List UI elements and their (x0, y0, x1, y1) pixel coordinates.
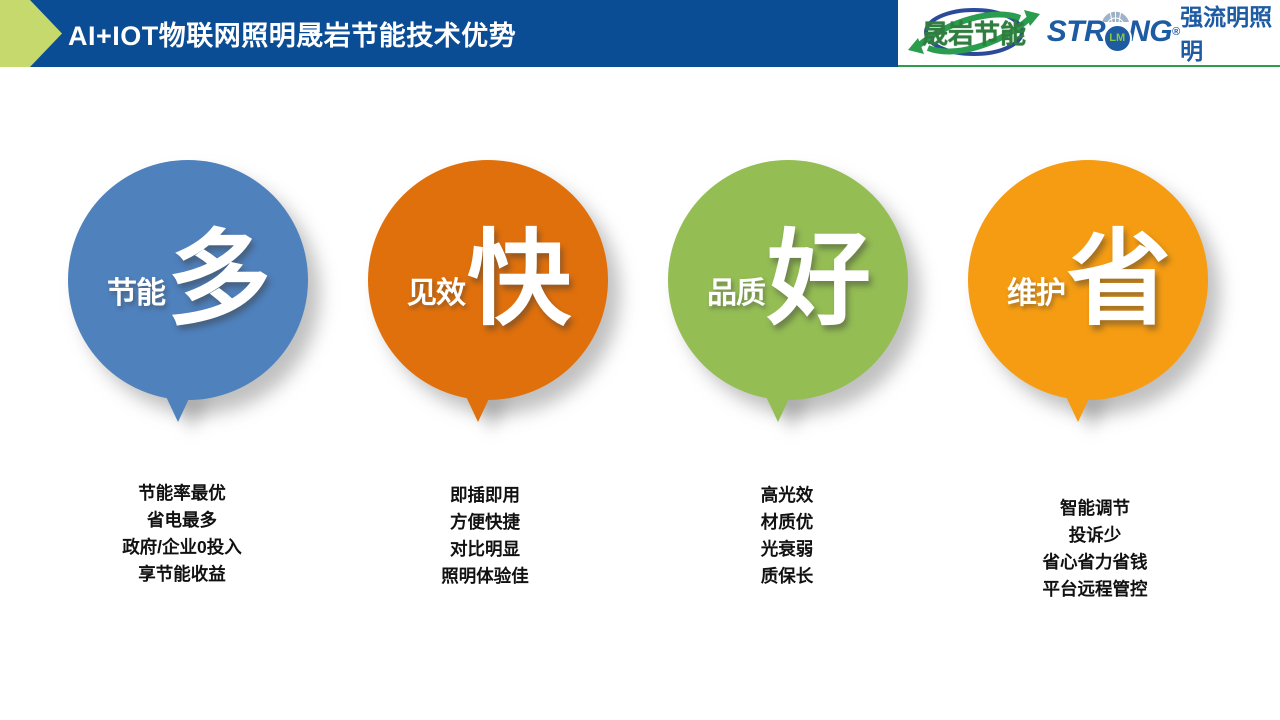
bubble-big-label: 好 (767, 228, 869, 332)
bubble-big-label: 省 (1067, 228, 1169, 332)
caption-line: 节能率最优 (32, 480, 332, 507)
bubble-small-label: 维护 (1007, 279, 1065, 309)
caption-list-speed: 即插即用 方便快捷 对比明显 照明体验佳 (335, 482, 635, 590)
caption-line: 平台远程管控 (945, 576, 1245, 603)
caption-line: 方便快捷 (335, 509, 635, 536)
lm-badge: LM (1103, 24, 1132, 53)
bubble-maintenance: 维护 省 (968, 160, 1208, 400)
bubble-speed: 见效 快 (368, 160, 608, 400)
caption-list-quality: 高光效 材质优 光衰弱 质保长 (637, 482, 937, 590)
caption-line: 省电最多 (32, 507, 332, 534)
caption-list-energy: 节能率最优 省电最多 政府/企业0投入 享节能收益 (32, 480, 332, 588)
bubble-small-label: 节能 (107, 279, 165, 309)
caption-line: 高光效 (637, 482, 937, 509)
bubble-labels: 见效 快 (368, 160, 608, 400)
caption-line: 照明体验佳 (335, 563, 635, 590)
brand-en-text-tail: NG (1128, 15, 1172, 48)
bubble-big-label: 多 (167, 228, 269, 332)
caption-line: 即插即用 (335, 482, 635, 509)
registered-mark: ® (1172, 26, 1180, 38)
caption-line: 享节能收益 (32, 561, 332, 588)
bubble-quality: 品质 好 (668, 160, 908, 400)
brand-en-text: STR (1047, 15, 1106, 48)
bubble-big-label: 快 (467, 228, 569, 332)
caption-list-maintenance: 智能调节 投诉少 省心省力省钱 平台远程管控 (945, 495, 1245, 603)
slide-header: AI+IOT物联网照明晟岩节能技术优势 晟岩节能 (0, 0, 1280, 67)
slide-root: AI+IOT物联网照明晟岩节能技术优势 晟岩节能 (0, 0, 1280, 720)
caption-line: 政府/企业0投入 (32, 534, 332, 561)
caption-line: 光衰弱 (637, 536, 937, 563)
caption-line: 质保长 (637, 563, 937, 590)
caption-line: 对比明显 (335, 536, 635, 563)
brand-chinese-text: 晟岩节能 (898, 14, 1050, 51)
bubble-labels: 维护 省 (968, 160, 1208, 400)
bubble-small-label: 见效 (407, 279, 465, 309)
bubble-small-label: 品质 (707, 279, 765, 309)
caption-line: 智能调节 (945, 495, 1245, 522)
brand-chinese-sub: 强流明照明 (1180, 0, 1280, 66)
bubble-row: 节能 多 见效 快 品质 好 (0, 160, 1280, 450)
bubble-labels: 品质 好 (668, 160, 908, 400)
bubble-energy: 节能 多 (68, 160, 308, 400)
company-logo: 晟岩节能 STRONG LM ® 强流明照明 (898, 0, 1280, 67)
page-title: AI+IOT物联网照明晟岩节能技术优势 (68, 0, 516, 67)
bubble-labels: 节能 多 (68, 160, 308, 400)
caption-line: 投诉少 (945, 522, 1245, 549)
brand-chinese-logo: 晟岩节能 (898, 6, 1041, 58)
caption-line: 材质优 (637, 509, 937, 536)
brand-english-logo: STRONG LM ® 强流明照明 (1047, 0, 1280, 66)
caption-line: 省心省力省钱 (945, 549, 1245, 576)
